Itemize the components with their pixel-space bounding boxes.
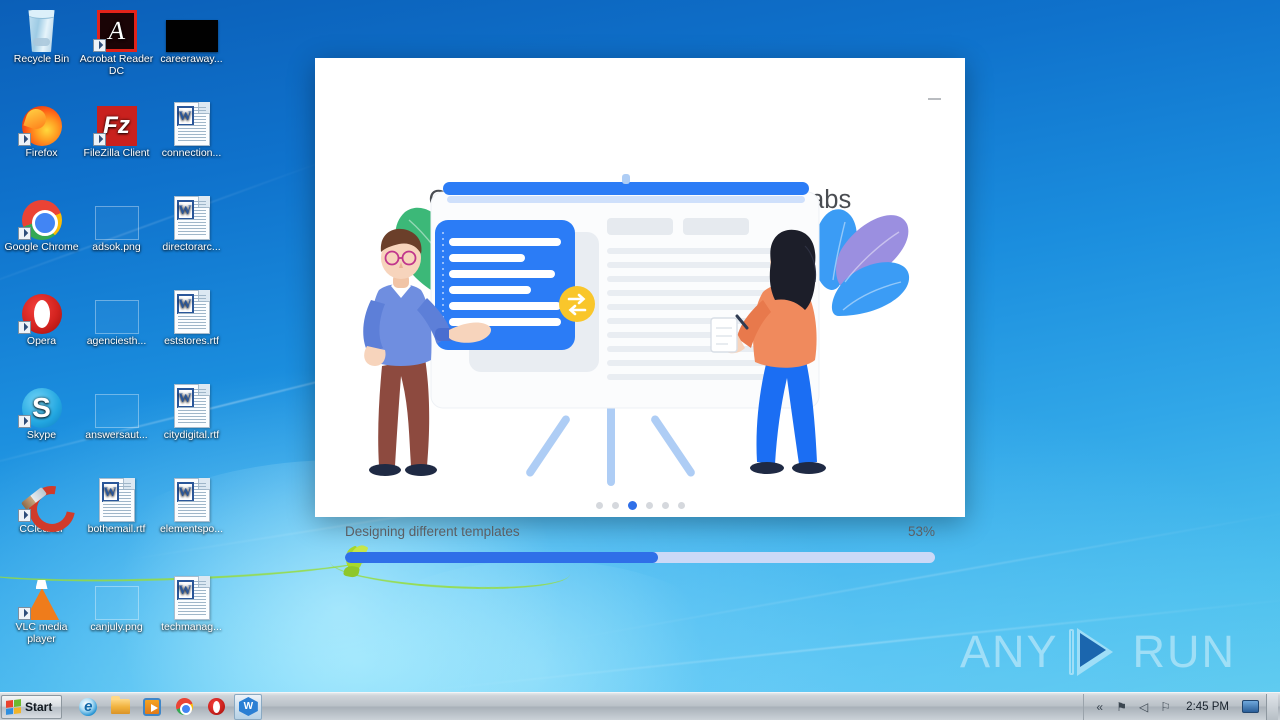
desktop-icon-label: techmanag... (154, 622, 229, 634)
opera-icon (4, 288, 79, 334)
shortcut-arrow-icon (18, 607, 31, 620)
chevron-up-icon[interactable]: « (1092, 699, 1107, 714)
png-icon (79, 194, 154, 240)
shortcut-arrow-icon (18, 321, 31, 334)
desktop-icon-label: Opera (4, 336, 79, 348)
carousel-dot-1[interactable] (596, 502, 603, 509)
shortcut-arrow-icon (18, 509, 31, 522)
desktop-icon-elementspo[interactable]: Welementspo... (154, 476, 229, 536)
desktop-icon-directorarc[interactable]: Wdirectorarc... (154, 194, 229, 254)
png-icon (79, 382, 154, 428)
pdf-icon (79, 6, 154, 52)
clock[interactable]: 2:45 PM (1180, 701, 1235, 713)
desktop-icon-eststores-rtf[interactable]: Weststores.rtf (154, 288, 229, 348)
carousel-dot-6[interactable] (678, 502, 685, 509)
desktop-icon-adsok-png[interactable]: adsok.png (79, 194, 154, 254)
desktop-icon-filezilla-client[interactable]: FileZilla Client (79, 100, 154, 160)
progress-bar-fill (345, 552, 658, 563)
shortcut-arrow-icon (18, 133, 31, 146)
action-center-flag-icon[interactable]: ⚑ (1114, 699, 1129, 714)
file-explorer-icon (111, 699, 130, 714)
taskbar-file-explorer-button[interactable] (106, 694, 134, 720)
minimize-icon[interactable] (923, 82, 945, 100)
progress-status-row: Designing different templates 53% (345, 524, 935, 539)
desktop-icon-bothemail-rtf[interactable]: Wbothemail.rtf (79, 476, 154, 536)
desktop-icon-label: Skype (4, 430, 79, 442)
desktop-icon-label: Acrobat Reader DC (79, 54, 154, 77)
desktop-icon-ccleaner[interactable]: CCleaner (4, 476, 79, 536)
desktop-icon-careeraway[interactable]: careeraway... (154, 6, 229, 66)
system-tray: « ⚑ ◁ ⚐ 2:45 PM (1083, 694, 1280, 720)
recycle-icon (4, 6, 79, 52)
desktop-icon-acrobat-reader-dc[interactable]: Acrobat Reader DC (79, 6, 154, 77)
anyrun-watermark: ANY RUN (960, 626, 1236, 678)
png-icon (79, 288, 154, 334)
play-triangle-icon (1067, 626, 1125, 678)
speaker-icon[interactable]: ◁ (1136, 699, 1151, 714)
desktop-icon-skype[interactable]: Skype (4, 382, 79, 442)
installer-dialog[interactable]: Quickly switch between different tabs (315, 58, 965, 517)
chrome-icon (4, 194, 79, 240)
carousel-dot-5[interactable] (662, 502, 669, 509)
desktop-icon-citydigital-rtf[interactable]: Wcitydigital.rtf (154, 382, 229, 442)
desktop-icon-label: agenciesth... (79, 336, 154, 348)
desktop-icon-label: FileZilla Client (79, 148, 154, 160)
shortcut-arrow-icon (18, 415, 31, 428)
desktop-icon-label: canjuly.png (79, 622, 154, 634)
doc-icon: W (79, 476, 154, 522)
filezilla-icon (79, 100, 154, 146)
taskbar-opera-button[interactable] (202, 694, 230, 720)
windows-flag-icon (6, 699, 21, 715)
desktop-icon-label: answersaut... (79, 430, 154, 442)
taskbar-wps-office-button[interactable] (234, 694, 262, 720)
desktop-icon-recycle-bin[interactable]: Recycle Bin (4, 6, 79, 66)
monitor-icon[interactable] (1242, 700, 1259, 713)
desktop-icon-firefox[interactable]: Firefox (4, 100, 79, 160)
carousel-dot-4[interactable] (646, 502, 653, 509)
shortcut-arrow-icon (93, 39, 106, 52)
shortcut-arrow-icon (93, 133, 106, 146)
carousel-dot-3[interactable] (628, 501, 637, 510)
desktop-icon-label: directorarc... (154, 242, 229, 254)
desktop-icon-google-chrome[interactable]: Google Chrome (4, 194, 79, 254)
desktop-icon-label: adsok.png (79, 242, 154, 254)
ccleaner-icon (4, 476, 79, 522)
progress-bar (345, 552, 935, 563)
doc-icon: W (154, 574, 229, 620)
desktop-icon-canjuly-png[interactable]: canjuly.png (79, 574, 154, 634)
taskbar-chrome-button[interactable] (170, 694, 198, 720)
desktop-icon-grid: Recycle BinAcrobat Reader DCcareeraway..… (0, 0, 250, 690)
status-text: Designing different templates (345, 524, 520, 539)
desktop-icon-label: citydigital.rtf (154, 430, 229, 442)
watermark-text-any: ANY (960, 626, 1059, 678)
media-player-icon (143, 698, 161, 716)
watermark-text-run: RUN (1133, 626, 1237, 678)
doc-icon: W (154, 382, 229, 428)
black-icon (154, 6, 229, 52)
doc-icon: W (154, 100, 229, 146)
vlc-icon (4, 574, 79, 620)
wps-office-icon (239, 697, 258, 716)
desktop-icon-label: Google Chrome (4, 242, 79, 254)
desktop-icon-label: connection... (154, 148, 229, 160)
taskbar-internet-explorer-button[interactable] (74, 694, 102, 720)
doc-icon: W (154, 476, 229, 522)
start-label: Start (25, 700, 52, 714)
shortcut-arrow-icon (18, 227, 31, 240)
desktop-icon-connection[interactable]: Wconnection... (154, 100, 229, 160)
presentation-board-illustration (339, 170, 941, 490)
doc-icon: W (154, 194, 229, 240)
desktop-icon-label: careeraway... (154, 54, 229, 66)
desktop-icon-opera[interactable]: Opera (4, 288, 79, 348)
carousel-dot-2[interactable] (612, 502, 619, 509)
desktop-icon-label: Firefox (4, 148, 79, 160)
internet-explorer-icon (79, 698, 97, 716)
carousel-pagination[interactable] (315, 502, 965, 510)
progress-percent-label: 53% (908, 524, 935, 539)
desktop-icon-label: Recycle Bin (4, 54, 79, 66)
taskbar[interactable]: Start « ⚑ ◁ ⚐ 2:45 PM (0, 692, 1280, 720)
start-button[interactable]: Start (1, 695, 62, 719)
firefox-icon (4, 100, 79, 146)
desktop-icon-label: elementspo... (154, 524, 229, 536)
chrome-icon (176, 698, 193, 715)
desktop-icon-answersaut[interactable]: answersaut... (79, 382, 154, 442)
show-desktop-button[interactable] (1266, 694, 1278, 720)
desktop-icon-label: VLC media player (4, 622, 79, 645)
png-icon (79, 574, 154, 620)
desktop-icon-techmanag[interactable]: Wtechmanag... (154, 574, 229, 634)
desktop-icon-label: eststores.rtf (154, 336, 229, 348)
doc-icon: W (154, 288, 229, 334)
desktop-icon-vlc-media-player[interactable]: VLC media player (4, 574, 79, 645)
quick-launch-bar (74, 694, 262, 720)
network-flag-icon[interactable]: ⚐ (1158, 699, 1173, 714)
skype-icon (4, 382, 79, 428)
desktop-icon-agenciesth[interactable]: agenciesth... (79, 288, 154, 348)
opera-icon (208, 698, 225, 715)
desktop-icon-label: bothemail.rtf (79, 524, 154, 536)
taskbar-media-player-button[interactable] (138, 694, 166, 720)
